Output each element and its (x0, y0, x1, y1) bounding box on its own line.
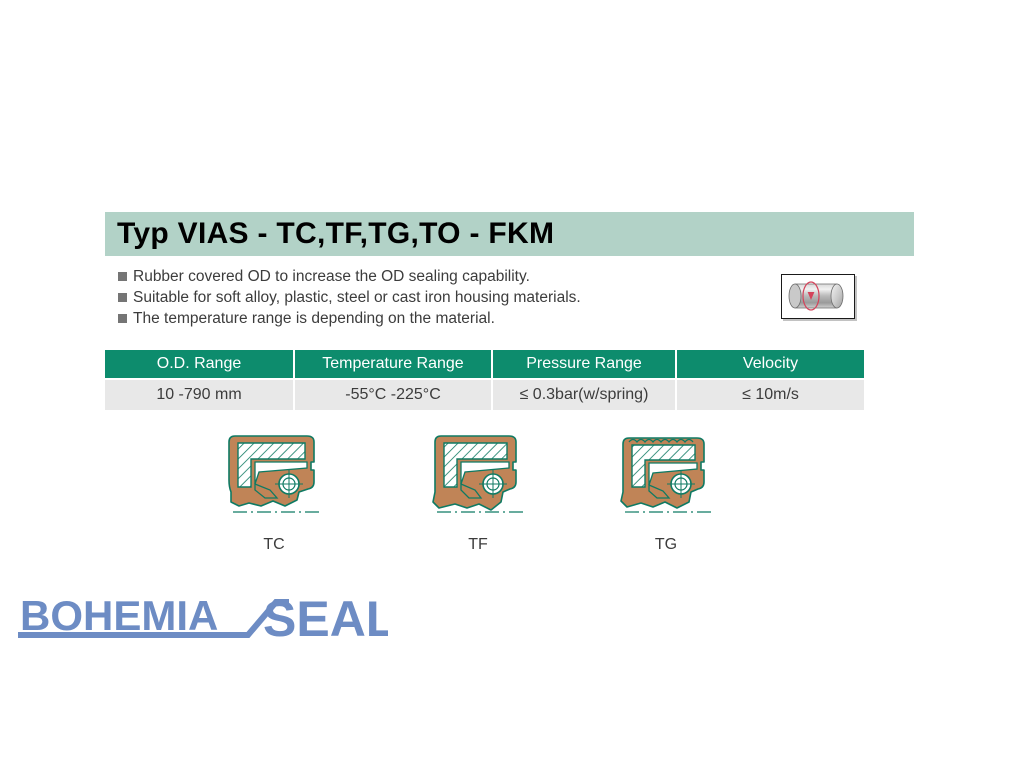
cell-pressure-range: ≤ 0.3bar(w/spring) (492, 379, 676, 410)
seal-label-tc: TC (199, 536, 349, 554)
seal-figure-tf: TF (403, 432, 553, 554)
seal-diagram-row: TC TF (105, 432, 865, 562)
square-bullet-icon (118, 293, 127, 302)
list-item: The temperature range is depending on th… (118, 308, 758, 329)
table-header-row: O.D. Range Temperature Range Pressure Ra… (105, 350, 864, 379)
specification-table: O.D. Range Temperature Range Pressure Ra… (105, 350, 864, 410)
column-header-pressure-range: Pressure Range (492, 350, 676, 379)
feature-text: Rubber covered OD to increase the OD sea… (133, 266, 530, 287)
cell-velocity: ≤ 10m/s (676, 379, 864, 410)
seal-figure-tg: TG (591, 432, 741, 554)
seal-label-tg: TG (591, 536, 741, 554)
square-bullet-icon (118, 272, 127, 281)
logo-text-primary: BOHEMIA (20, 592, 218, 639)
feature-text: Suitable for soft alloy, plastic, steel … (133, 287, 581, 308)
feature-list: Rubber covered OD to increase the OD sea… (118, 266, 758, 329)
column-header-velocity: Velocity (676, 350, 864, 379)
feature-text: The temperature range is depending on th… (133, 308, 495, 329)
bohemia-seal-logo: BOHEMIA SEAL (18, 588, 388, 650)
seal-figure-tc: TC (199, 432, 349, 554)
cell-od-range: 10 -790 mm (105, 379, 294, 410)
list-item: Suitable for soft alloy, plastic, steel … (118, 287, 758, 308)
square-bullet-icon (118, 314, 127, 323)
rotating-shaft-icon (781, 274, 855, 319)
logo-text-secondary: SEAL (263, 591, 388, 647)
seal-label-tf: TF (403, 536, 553, 554)
page-title: Typ VIAS - TC,TF,TG,TO - FKM (105, 217, 554, 251)
column-header-od-range: O.D. Range (105, 350, 294, 379)
column-header-temperature-range: Temperature Range (294, 350, 492, 379)
table-row: 10 -790 mm -55°C -225°C ≤ 0.3bar(w/sprin… (105, 379, 864, 410)
list-item: Rubber covered OD to increase the OD sea… (118, 266, 758, 287)
cell-temperature-range: -55°C -225°C (294, 379, 492, 410)
title-banner: Typ VIAS - TC,TF,TG,TO - FKM (105, 212, 914, 256)
